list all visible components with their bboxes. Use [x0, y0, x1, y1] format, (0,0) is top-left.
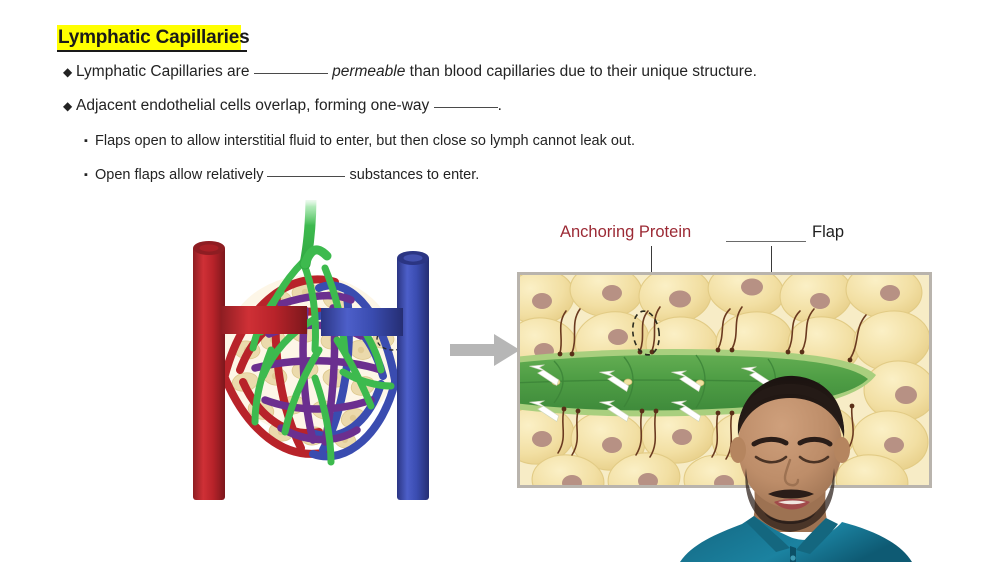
bullet-1-after: than blood capillaries due to their uniq…: [410, 63, 757, 80]
bullet-2-after: .: [498, 97, 502, 114]
bullet-text-2: Adjacent endothelial cells overlap, form…: [76, 96, 502, 116]
bullet-2-blank: [434, 107, 498, 108]
anchoring-protein-label: Anchoring Protein: [560, 223, 691, 242]
dot-bullet-icon: ▪: [84, 131, 95, 151]
bullet-item-1: ◆ Lymphatic Capillaries are permeable th…: [63, 62, 757, 82]
slide-title-container: Lymphatic Capillaries: [57, 25, 251, 51]
bullet-4-before: Open flaps allow relatively: [95, 167, 263, 183]
capillary-bed-diagram: [185, 200, 475, 500]
dot-bullet-icon: ▪: [84, 165, 95, 185]
bullet-text-4: Open flaps allow relatively substances t…: [95, 165, 479, 185]
zoom-in-arrow: [450, 330, 522, 370]
diamond-bullet-icon: ◆: [63, 96, 76, 116]
lecture-slide: Lymphatic Capillaries ◆ Lymphatic Capill…: [0, 0, 1000, 562]
bullet-1-emphasis: permeable: [332, 63, 405, 80]
bullet-item-2: ◆ Adjacent endothelial cells overlap, fo…: [63, 96, 502, 116]
title-underline: [57, 50, 247, 52]
bullet-1-before: Lymphatic Capillaries are: [76, 63, 249, 80]
bullet-4-after: substances to enter.: [350, 167, 480, 183]
diamond-bullet-icon: ◆: [63, 62, 76, 82]
flap-blank-line: [726, 241, 806, 242]
bullet-4-blank: [267, 176, 345, 177]
bullet-2-before: Adjacent endothelial cells overlap, form…: [76, 97, 429, 114]
bullet-1-blank: [254, 73, 328, 74]
bullet-text-3: Flaps open to allow interstitial fluid t…: [95, 131, 635, 151]
bullet-text-1: Lymphatic Capillaries are permeable than…: [76, 62, 757, 82]
page-title: Lymphatic Capillaries: [57, 25, 251, 50]
bullet-item-3: ▪ Flaps open to allow interstitial fluid…: [84, 131, 635, 151]
bullet-item-4: ▪ Open flaps allow relatively substances…: [84, 165, 479, 185]
presenter-webcam: [676, 372, 916, 562]
flap-label: Flap: [812, 223, 844, 242]
